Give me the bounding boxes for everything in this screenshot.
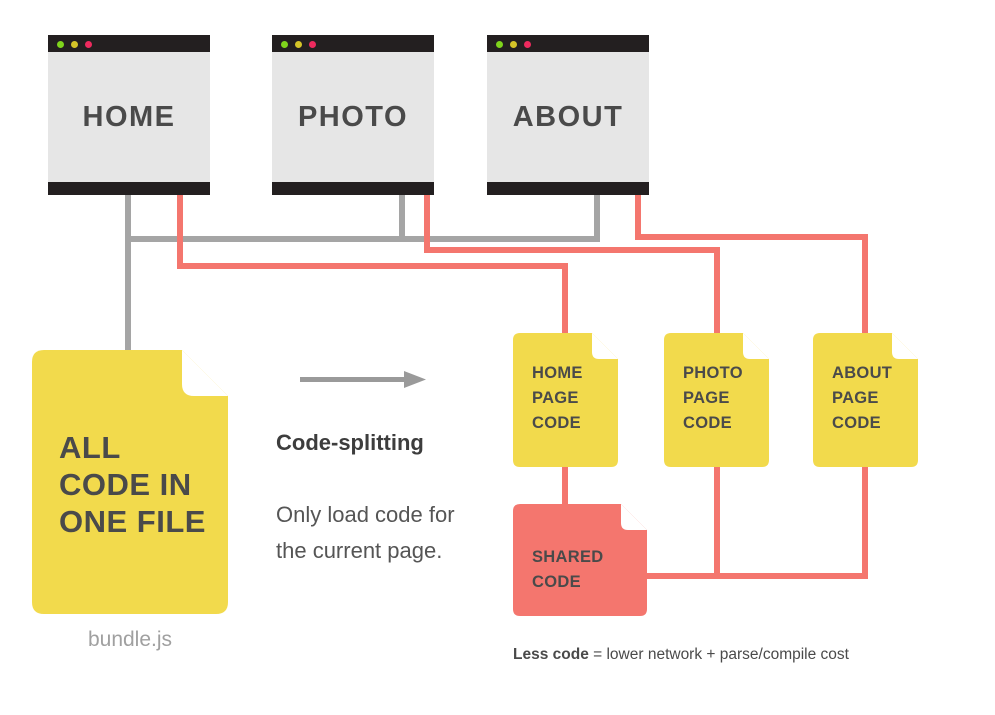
- browser-footer-bar: [272, 182, 434, 195]
- connector-salmon-photo-to-shared: [714, 467, 720, 579]
- browser-titlebar: [487, 35, 649, 52]
- connector-gray-about-vertical: [594, 195, 600, 242]
- chunk-file-about[interactable]: ABOUT PAGE CODE: [813, 333, 918, 467]
- traffic-light-red-icon[interactable]: [85, 41, 92, 48]
- connector-salmon-rail-home: [177, 263, 568, 269]
- traffic-light-red-icon[interactable]: [309, 41, 316, 48]
- code-splitting-description: Only load code for the current page.: [276, 497, 476, 569]
- browser-footer-bar: [48, 182, 210, 195]
- connector-salmon-photo-vertical: [424, 195, 430, 253]
- browser-page-label: HOME: [83, 101, 176, 134]
- browser-viewport: HOME: [48, 52, 210, 182]
- bundle-file-caption: bundle.js: [32, 628, 228, 652]
- traffic-light-green-icon[interactable]: [57, 41, 64, 48]
- browser-window-about[interactable]: ABOUT: [487, 35, 649, 195]
- traffic-light-green-icon[interactable]: [496, 41, 503, 48]
- connector-salmon-rail-about: [635, 234, 868, 240]
- browser-footer-bar: [487, 182, 649, 195]
- bundle-file-label: ALL CODE IN ONE FILE: [59, 429, 228, 540]
- chunk-file-label: ABOUT PAGE CODE: [832, 361, 918, 436]
- chunk-file-label: PHOTO PAGE CODE: [683, 361, 769, 436]
- code-splitting-title: Code-splitting: [276, 430, 424, 456]
- browser-titlebar: [272, 35, 434, 52]
- arrow-right-icon: [300, 371, 426, 388]
- traffic-light-yellow-icon[interactable]: [510, 41, 517, 48]
- browser-page-label: ABOUT: [513, 101, 624, 134]
- browser-window-home[interactable]: HOME: [48, 35, 210, 195]
- bundle-file-card[interactable]: ALL CODE IN ONE FILE: [32, 350, 228, 614]
- bottom-caption-rest: = lower network + parse/compile cost: [589, 646, 849, 663]
- chunk-file-photo[interactable]: PHOTO PAGE CODE: [664, 333, 769, 467]
- connector-salmon-home-vertical: [177, 195, 183, 269]
- traffic-light-green-icon[interactable]: [281, 41, 288, 48]
- diagram-canvas: HOME PHOTO ABOUT: [0, 0, 995, 715]
- connector-salmon-rail-photo: [424, 247, 720, 253]
- browser-viewport: ABOUT: [487, 52, 649, 182]
- bottom-caption-bold: Less code: [513, 646, 589, 663]
- connector-gray-photo-vertical: [399, 195, 405, 242]
- chunk-file-label: HOME PAGE CODE: [532, 361, 618, 436]
- browser-titlebar: [48, 35, 210, 52]
- connector-salmon-to-home-chunk: [562, 263, 568, 338]
- chunk-file-home[interactable]: HOME PAGE CODE: [513, 333, 618, 467]
- shared-code-file-label: SHARED CODE: [532, 545, 647, 595]
- browser-page-label: PHOTO: [298, 101, 408, 134]
- shared-code-file-card[interactable]: SHARED CODE: [513, 504, 647, 616]
- browser-window-photo[interactable]: PHOTO: [272, 35, 434, 195]
- traffic-light-yellow-icon[interactable]: [71, 41, 78, 48]
- connector-gray-home-to-bundle: [125, 195, 131, 353]
- traffic-light-yellow-icon[interactable]: [295, 41, 302, 48]
- connector-salmon-to-photo-chunk: [714, 247, 720, 338]
- bottom-caption: Less code = lower network + parse/compil…: [513, 646, 849, 664]
- traffic-light-red-icon[interactable]: [524, 41, 531, 48]
- connector-gray-rail: [125, 236, 600, 242]
- browser-viewport: PHOTO: [272, 52, 434, 182]
